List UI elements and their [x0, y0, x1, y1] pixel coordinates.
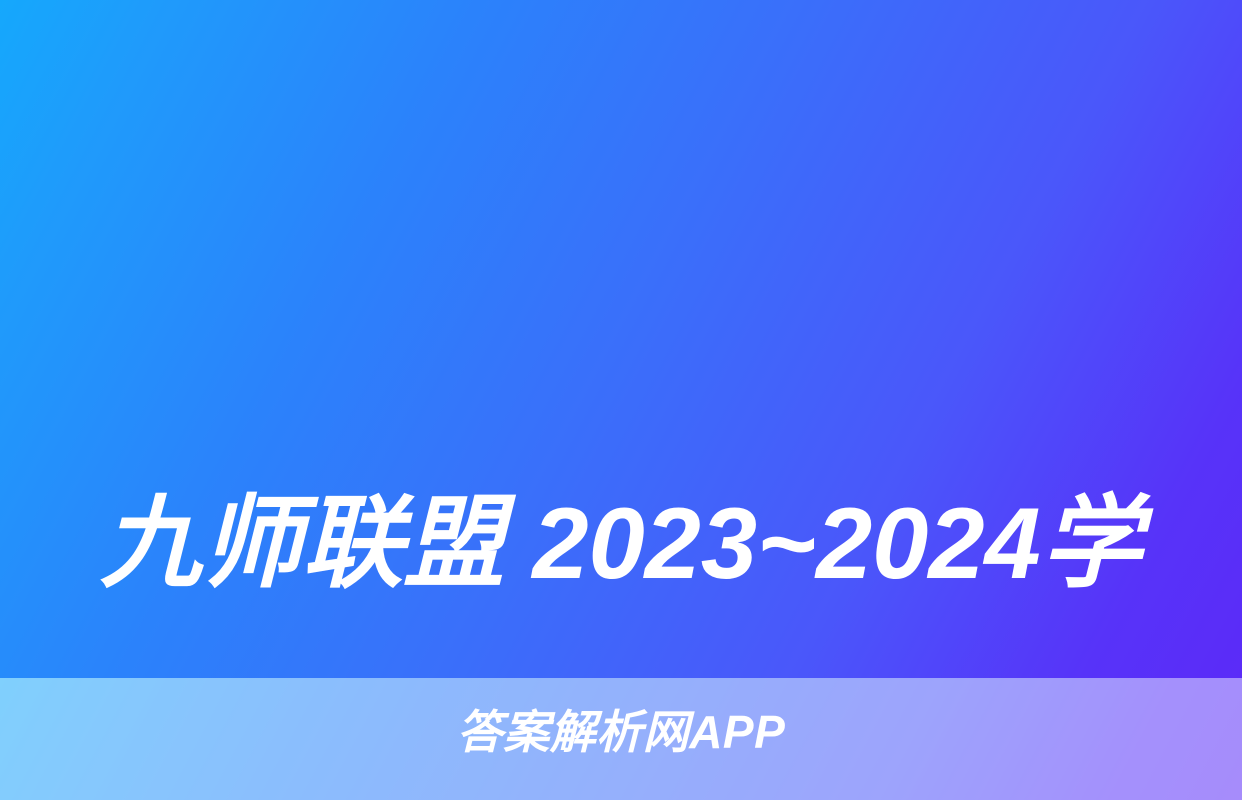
page-title-line-1: 九师联盟 2023~2024学	[60, 472, 1182, 617]
watermark-brand-label: 答案解析网APP	[0, 703, 1242, 761]
poster-canvas: 九师联盟 2023~2024学 年度高一上学期期末考试 试卷地理答案 答案解析网…	[0, 0, 1242, 800]
